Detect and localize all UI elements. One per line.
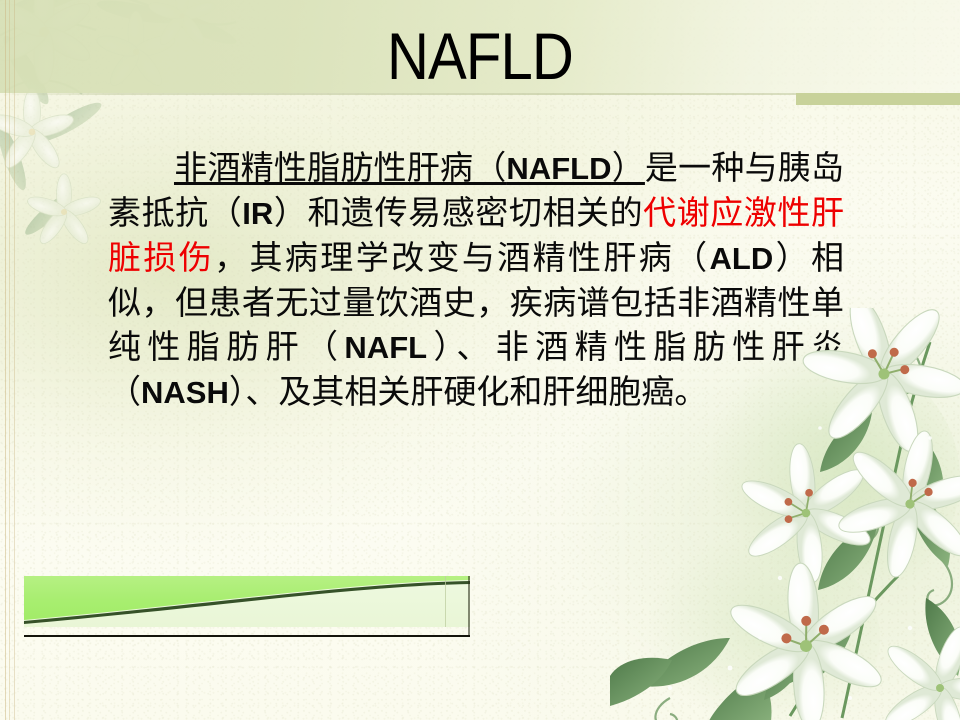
text-abbr-nafld: NAFLD — [506, 151, 611, 186]
text-abbr-ir: IR — [242, 196, 273, 231]
left-border-rules — [5, 0, 17, 720]
text-abbr-ald: ALD — [710, 241, 774, 276]
presentation-slide: NAFLD 非酒精性脂肪性肝病（NAFLD）是一种与胰岛素抵抗（IR）和遗传易感… — [0, 0, 960, 720]
text-underlined-close-paren: ） — [611, 148, 644, 187]
banner-pane — [24, 576, 470, 627]
header-accent-tab — [796, 93, 960, 105]
slide-body-text: 非酒精性脂肪性肝病（NAFLD）是一种与胰岛素抵抗（IR）和遗传易感密切相关的代… — [108, 146, 844, 415]
text-abbr-nafl: NAFL — [344, 330, 427, 365]
banner-divider — [445, 576, 446, 627]
slide-title: NAFLD — [58, 20, 903, 92]
bottom-green-banner — [24, 576, 470, 640]
body-paragraph: 非酒精性脂肪性肝病（NAFLD）是一种与胰岛素抵抗（IR）和遗传易感密切相关的代… — [108, 146, 844, 415]
text-underlined-term: 非酒精性脂肪性肝病（ — [174, 148, 506, 187]
banner-baseline — [24, 635, 470, 637]
banner-right-edge — [468, 576, 470, 636]
text-abbr-nash: NASH — [141, 375, 229, 410]
banner-swoosh-shape — [24, 576, 470, 627]
